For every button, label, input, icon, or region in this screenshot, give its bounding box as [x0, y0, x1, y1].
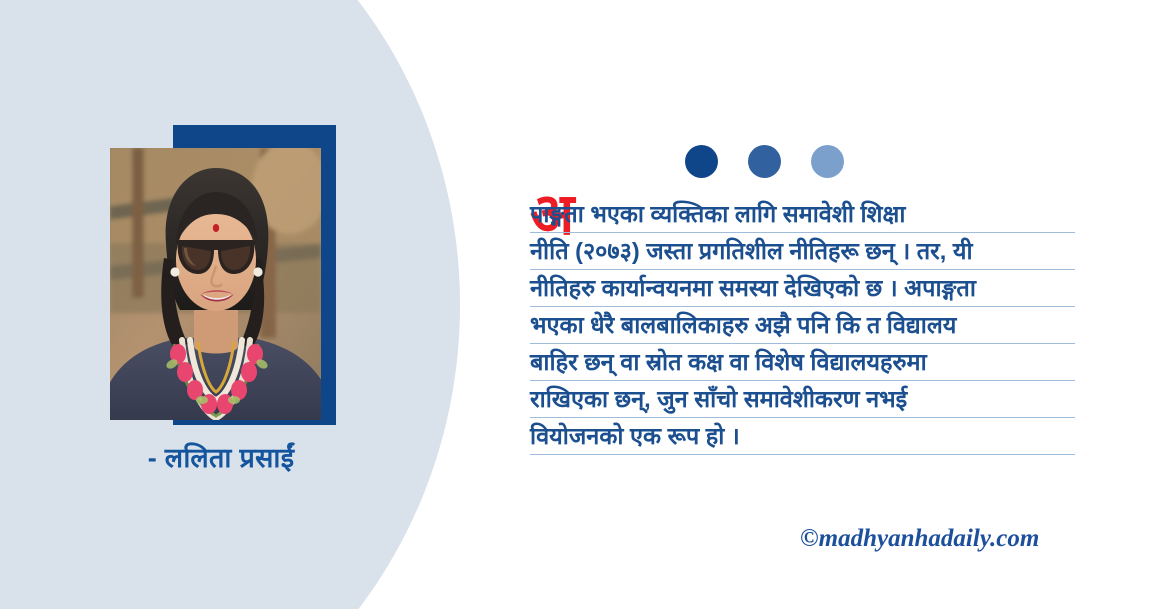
portrait-illustration [110, 148, 321, 420]
attribution-name: - ललिता प्रसाईं [0, 438, 420, 475]
site-watermark: ©madhyanhadaily.com [800, 525, 1039, 553]
dot-1-icon [685, 145, 718, 178]
portrait-block [0, 0, 420, 470]
quote-line-7: वियोजनको एक रूप हो । [530, 418, 1075, 455]
quote-line-6: राखिएका छन्, जुन साँचो समावेशीकरण नभई [530, 381, 1075, 418]
quote-card: - ललिता प्रसाईं अ पाङ्गता भएका व्यक्तिका… [0, 0, 1150, 609]
quote-line-1: पाङ्गता भएका व्यक्तिका लागि समावेशी शिक्… [530, 196, 1075, 233]
quote-line-3: नीतिहरु कार्यान्वयनमा समस्या देखिएको छ ।… [530, 270, 1075, 307]
portrait-photo [110, 148, 321, 420]
quote-line-2: नीति (२०७३) जस्ता प्रगतिशील नीतिहरू छन् … [530, 233, 1075, 270]
dot-2-icon [748, 145, 781, 178]
quote-line-4: भएका धेरै बालबालिकाहरु अझै पनि कि त विद्… [530, 307, 1075, 344]
decorative-dots [685, 145, 844, 178]
quote-block: अ पाङ्गता भएका व्यक्तिका लागि समावेशी शि… [530, 196, 1075, 455]
quote-line-5: बाहिर छन् वा स्रोत कक्ष वा विशेष विद्याल… [530, 344, 1075, 381]
quote-content: अ पाङ्गता भएका व्यक्तिका लागि समावेशी शि… [530, 0, 1090, 609]
dot-3-icon [811, 145, 844, 178]
